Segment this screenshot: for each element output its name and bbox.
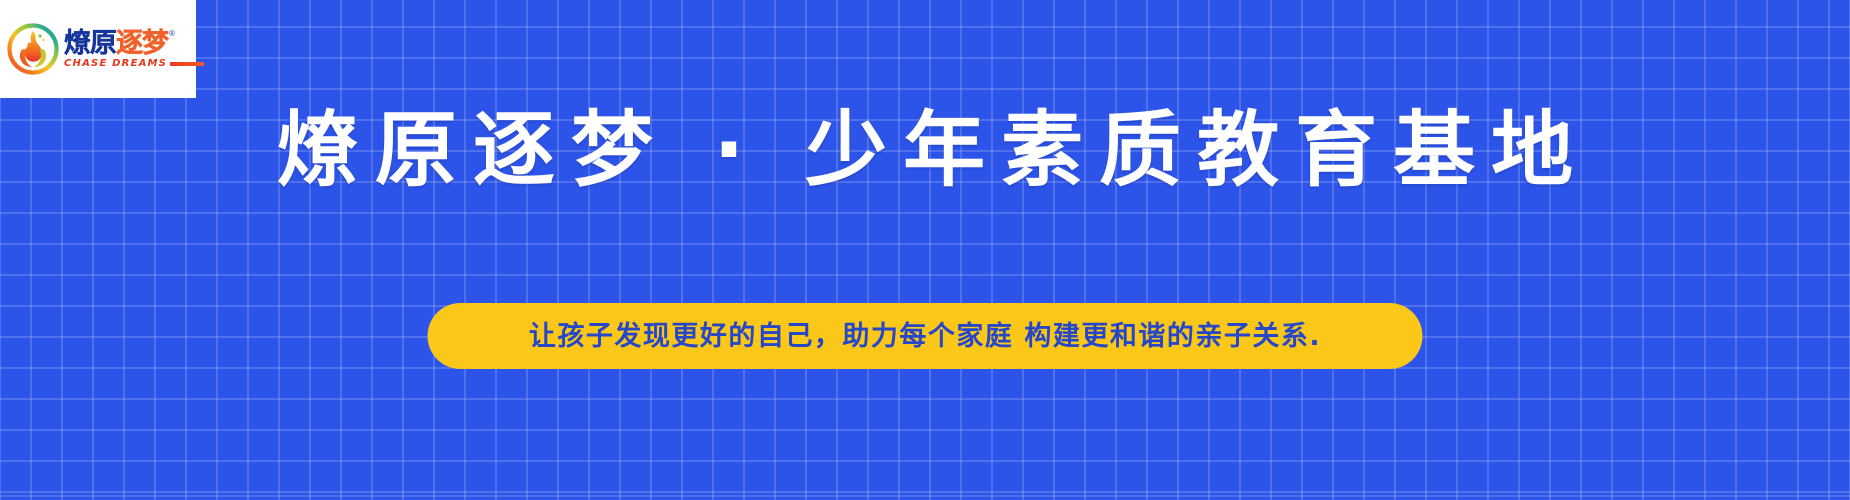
- brand-tagline-english: CHASE DREAMS: [64, 59, 167, 69]
- page-title: 燎原逐梦 · 少年素质教育基地: [0, 108, 1850, 194]
- brand-logo-plate[interactable]: 燎原 逐梦 ® CHASE DREAMS: [0, 0, 196, 98]
- tagline-underline-bar: [170, 62, 204, 66]
- subtitle-pill: 让孩子发现更好的自己，助力每个家庭 构建更和谐的亲子关系.: [428, 303, 1423, 369]
- registered-trademark-icon: ®: [169, 30, 175, 38]
- promo-banner: 燎原 逐梦 ® CHASE DREAMS 燎原逐梦 · 少年素质教育基地 让孩子…: [0, 0, 1850, 500]
- subtitle-text: 让孩子发现更好的自己，助力每个家庭 构建更和谐的亲子关系.: [529, 323, 1321, 350]
- flame-in-circle-icon: [6, 22, 60, 76]
- grid-background-pattern: [0, 0, 1850, 500]
- brand-name-part1: 燎原: [64, 30, 116, 57]
- brand-wordmark: 燎原 逐梦 ® CHASE DREAMS: [64, 30, 204, 69]
- brand-name-part2: 逐梦: [116, 30, 168, 57]
- brand-wordmark-english: CHASE DREAMS: [64, 59, 204, 69]
- brand-wordmark-chinese: 燎原 逐梦 ®: [64, 30, 204, 57]
